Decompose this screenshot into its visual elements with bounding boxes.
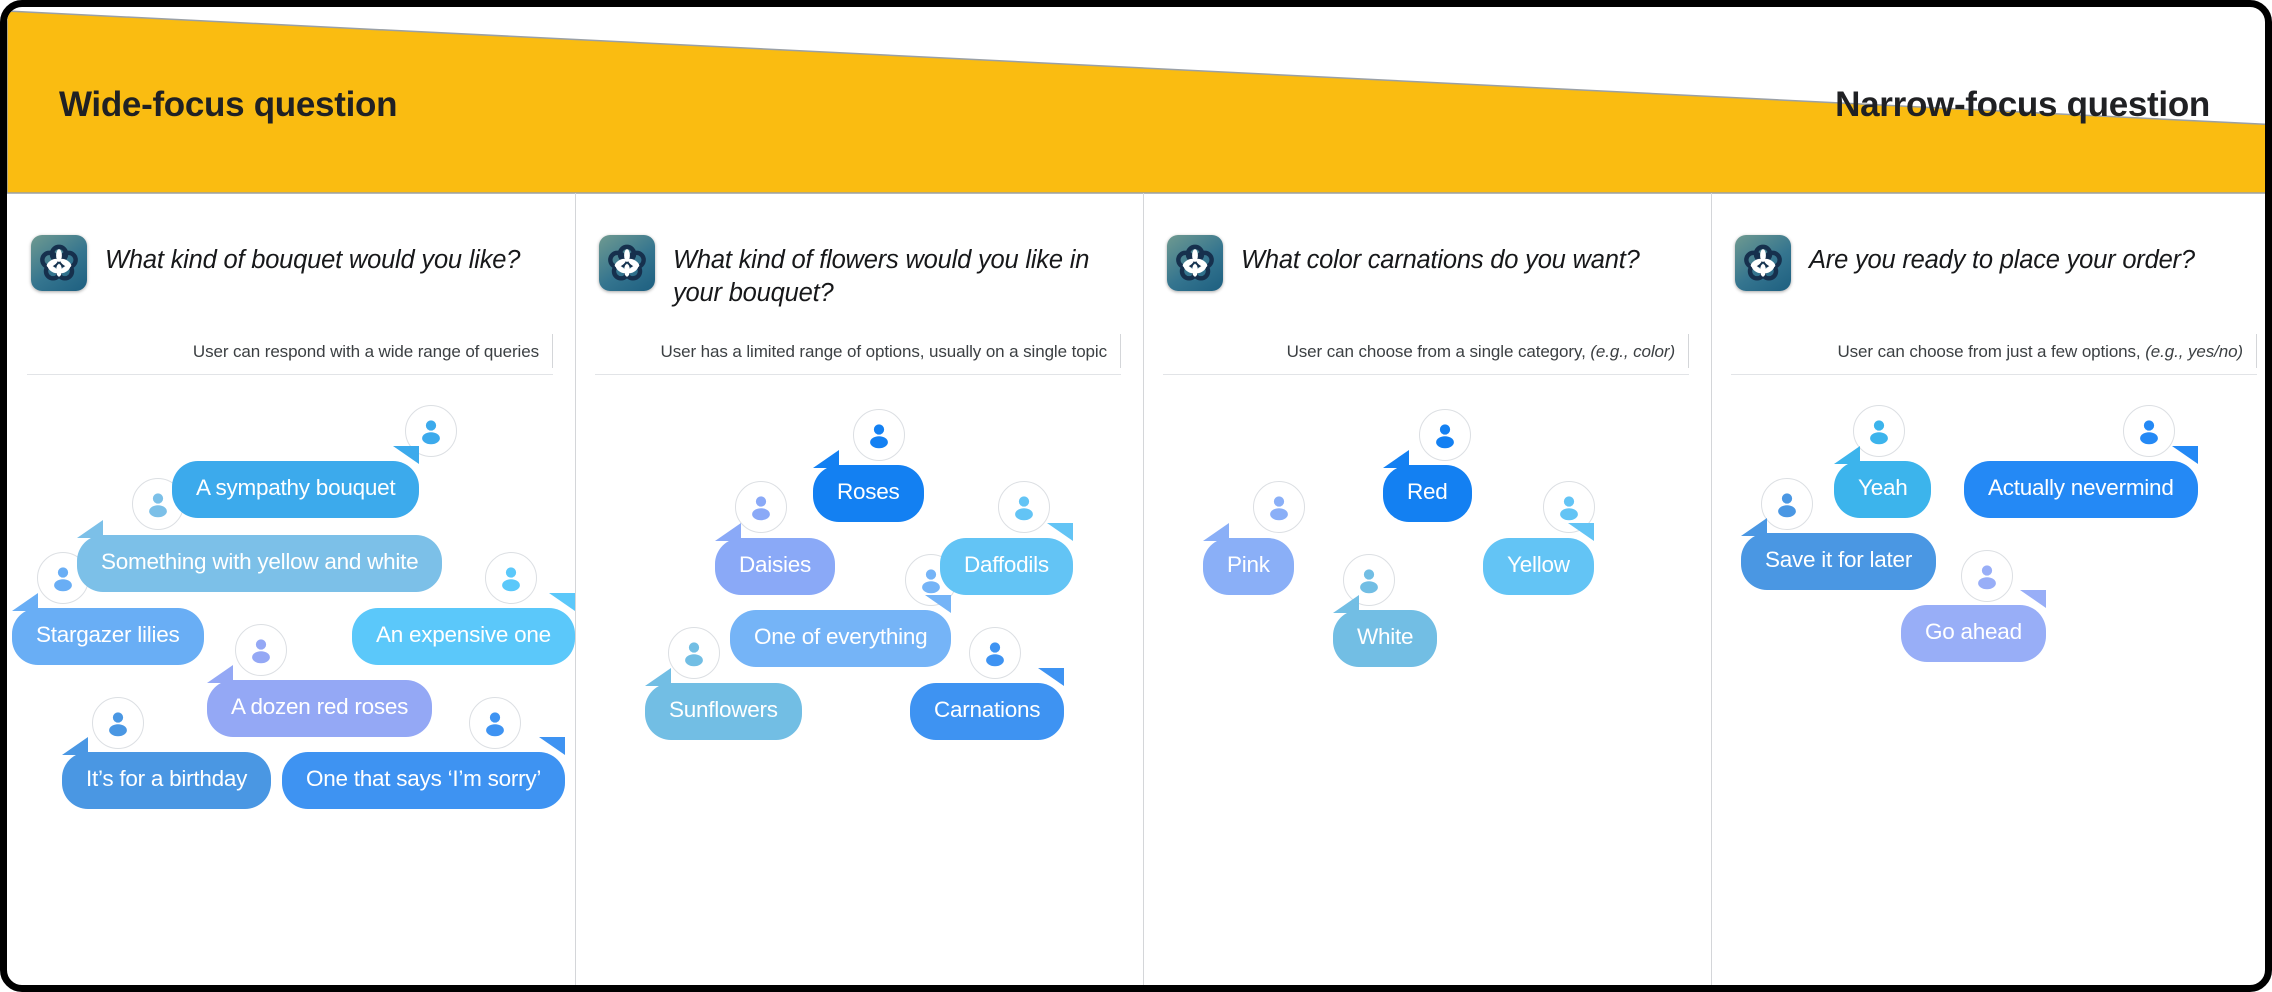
person-icon	[1961, 550, 2013, 602]
user-reply-bubble[interactable]: Roses	[813, 465, 924, 522]
user-reply-bubble[interactable]: Yellow	[1483, 538, 1594, 595]
caption-wrap: User can choose from a single category, …	[1143, 341, 1711, 375]
user-reply-bubble[interactable]: Actually nevermind	[1964, 461, 2198, 518]
caption-wrap: User has a limited range of options, usu…	[575, 341, 1143, 375]
person-icon	[998, 481, 1050, 533]
person-icon	[969, 627, 1021, 679]
caption-divider	[27, 374, 553, 375]
user-reply-bubble[interactable]: Daffodils	[940, 538, 1073, 595]
diagram-frame: Wide-focus question Narrow-focus questio…	[0, 0, 2272, 992]
column-caption: User can respond with a wide range of qu…	[27, 341, 553, 374]
user-reply-cloud: YeahActually nevermindSave it for laterG…	[1711, 399, 2272, 959]
user-reply-bubble[interactable]: One of everything	[730, 610, 951, 667]
wide-focus-label: Wide-focus question	[59, 85, 397, 125]
person-icon	[1761, 478, 1813, 530]
caption-example: (e.g., color)	[1590, 342, 1675, 361]
caption-divider	[595, 374, 1121, 375]
column-limited-range: What kind of flowers would you like in y…	[575, 193, 1143, 992]
agent-prompt-row: Are you ready to place your order?	[1711, 193, 2272, 301]
column-caption: User can choose from just a few options,…	[1731, 341, 2257, 374]
agent-prompt-row: What kind of flowers would you like in y…	[575, 193, 1143, 309]
agent-prompt-text: Are you ready to place your order?	[1809, 235, 2195, 277]
person-icon	[485, 552, 537, 604]
person-icon	[735, 481, 787, 533]
caption-wrap: User can choose from just a few options,…	[1711, 341, 2272, 375]
column-wide-focus: What kind of bouquet would you like? Use…	[7, 193, 575, 992]
columns-container: What kind of bouquet would you like? Use…	[7, 193, 2272, 992]
user-reply-bubble[interactable]: Sunflowers	[645, 683, 802, 740]
user-reply-cloud: RedPinkYellowWhite	[1143, 399, 1711, 959]
user-reply-bubble[interactable]: Red	[1383, 465, 1472, 522]
user-reply-bubble[interactable]: It’s for a birthday	[62, 752, 271, 809]
caption-divider	[1163, 374, 1689, 375]
person-icon	[469, 697, 521, 749]
person-icon	[1253, 481, 1305, 533]
agent-prompt-row: What kind of bouquet would you like?	[7, 193, 575, 301]
caption-main: User has a limited range of options, usu…	[661, 342, 1107, 361]
person-icon	[235, 624, 287, 676]
person-icon	[1419, 409, 1471, 461]
caption-divider	[1731, 374, 2257, 375]
column-few-options: Are you ready to place your order? User …	[1711, 193, 2272, 992]
agent-prompt-text: What kind of flowers would you like in y…	[673, 235, 1103, 309]
user-reply-bubble[interactable]: Save it for later	[1741, 533, 1936, 590]
agent-prompt-row: What color carnations do you want?	[1143, 193, 1711, 301]
agent-prompt-text: What kind of bouquet would you like?	[105, 235, 520, 277]
person-icon	[853, 409, 905, 461]
user-reply-bubble[interactable]: Go ahead	[1901, 605, 2046, 662]
flower-rosette-icon	[1167, 235, 1223, 291]
user-reply-bubble[interactable]: White	[1333, 610, 1437, 667]
person-icon	[668, 627, 720, 679]
column-caption: User can choose from a single category, …	[1163, 341, 1689, 374]
user-reply-bubble[interactable]: A dozen red roses	[207, 680, 432, 737]
user-reply-bubble[interactable]: Stargazer lilies	[12, 608, 204, 665]
user-reply-bubble[interactable]: Something with yellow and white	[77, 535, 442, 592]
user-reply-bubble[interactable]: Daisies	[715, 538, 835, 595]
narrow-focus-label: Narrow-focus question	[1835, 85, 2210, 125]
column-caption: User has a limited range of options, usu…	[595, 341, 1121, 374]
user-reply-bubble[interactable]: One that says ‘I’m sorry’	[282, 752, 565, 809]
user-reply-bubble[interactable]: Pink	[1203, 538, 1294, 595]
person-icon	[1853, 405, 1905, 457]
caption-main: User can choose from a single category,	[1287, 342, 1591, 361]
caption-main: User can choose from just a few options,	[1837, 342, 2145, 361]
caption-main: User can respond with a wide range of qu…	[193, 342, 539, 361]
flower-rosette-icon	[599, 235, 655, 291]
user-reply-bubble[interactable]: Yeah	[1834, 461, 1931, 518]
user-reply-cloud: A sympathy bouquetSomething with yellow …	[7, 399, 575, 959]
user-reply-bubble[interactable]: Carnations	[910, 683, 1064, 740]
person-icon	[2123, 405, 2175, 457]
agent-prompt-text: What color carnations do you want?	[1241, 235, 1640, 277]
flower-rosette-icon	[1735, 235, 1791, 291]
flower-rosette-icon	[31, 235, 87, 291]
user-reply-bubble[interactable]: An expensive one	[352, 608, 575, 665]
user-reply-cloud: RosesDaisiesDaffodilsOne of everythingSu…	[575, 399, 1143, 959]
person-icon	[92, 697, 144, 749]
caption-example: (e.g., yes/no)	[2145, 342, 2243, 361]
user-reply-bubble[interactable]: A sympathy bouquet	[172, 461, 419, 518]
caption-wrap: User can respond with a wide range of qu…	[7, 341, 575, 375]
column-single-category: What color carnations do you want? User …	[1143, 193, 1711, 992]
